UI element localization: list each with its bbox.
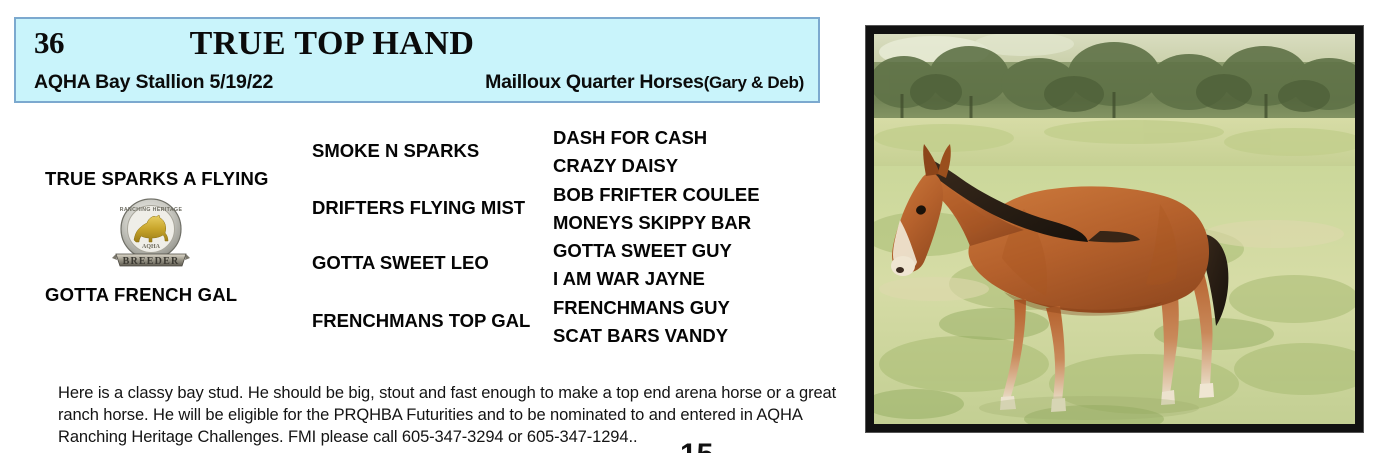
bay-foal-photo [866,26,1363,432]
svg-text:RANCHING HERITAGE: RANCHING HERITAGE [120,207,183,213]
photo-image [874,34,1355,424]
pedigree-g3-item: DASH FOR CASH [553,127,707,149]
emblem-banner-text: BREEDER [123,256,180,267]
horse-description: Here is a classy bay stud. He should be … [58,382,843,448]
pedigree-g3-item: I AM WAR JAYNE [553,268,705,290]
page-title: TRUE TOP HAND [16,25,818,63]
pedigree-g3-item: GOTTA SWEET GUY [553,240,732,262]
dam-name: GOTTA FRENCH GAL [45,284,237,306]
header-subline: AQHA Bay Stallion 5/19/22 Mailloux Quart… [16,71,818,99]
pedigree-g3-item: MONEYS SKIPPY BAR [553,212,751,234]
aqha-ranching-heritage-breeder-icon: RANCHING HERITAGE AQHA BREEDER [110,196,192,276]
consignor-people: (Gary & Deb) [704,73,804,92]
pedigree-g2-item: FRENCHMANS TOP GAL [312,310,530,332]
horse-header-box: 36 TRUE TOP HAND AQHA Bay Stallion 5/19/… [14,17,820,103]
consignor-farm: Mailloux Quarter Horses [485,71,704,93]
pedigree-g3-item: BOB FRIFTER COULEE [553,184,760,206]
breed-sex-dob: AQHA Bay Stallion 5/19/22 [34,71,273,94]
pedigree-g3-item: SCAT BARS VANDY [553,325,728,347]
svg-text:AQHA: AQHA [142,244,161,250]
page-number: 15 [680,440,713,453]
pedigree-g2-item: DRIFTERS FLYING MIST [312,197,525,219]
consignor-name: Mailloux Quarter Horses(Gary & Deb) [485,71,804,94]
sire-name: TRUE SPARKS A FLYING [45,168,269,190]
pedigree-g2-item: GOTTA SWEET LEO [312,252,489,274]
pedigree-g3-item: FRENCHMANS GUY [553,297,730,319]
catalog-page: 36 TRUE TOP HAND AQHA Bay Stallion 5/19/… [0,0,1379,453]
pedigree-g2-item: SMOKE N SPARKS [312,140,479,162]
pedigree-g3-item: CRAZY DAISY [553,155,678,177]
